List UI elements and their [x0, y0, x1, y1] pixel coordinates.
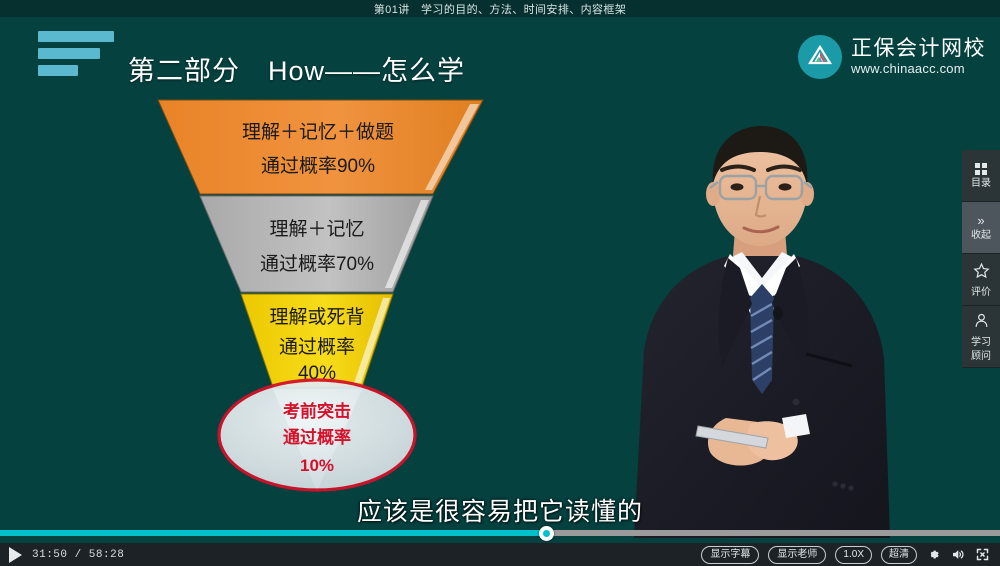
teacher-toggle-button[interactable]: 显示老师 — [768, 546, 826, 564]
funnel-yellow-line1: 理解或死背 — [269, 306, 364, 328]
sidebar-item-collapse-label: 收起 — [971, 230, 991, 241]
funnel-ellipse-line2: 通过概率 — [283, 427, 351, 447]
person-icon — [973, 312, 990, 334]
sidebar-item-advisor[interactable]: 学习 顾问 — [962, 306, 1000, 368]
funnel-level-gray: 理解＋记忆 通过概率70% — [200, 196, 433, 292]
sidebar-item-collapse[interactable]: » 收起 — [962, 202, 1000, 254]
sidebar-item-catalog[interactable]: 目录 — [962, 150, 1000, 202]
funnel-ellipse-line3: 10% — [300, 456, 334, 475]
video-player[interactable]: 第01讲 学习的目的、方法、时间安排、内容框架 第二部分 How——怎么学 正保… — [0, 0, 1000, 566]
slide-header: 第二部分 How——怎么学 正保会计网校 www.chinaacc.com — [0, 17, 1000, 95]
sidebar-item-advisor-label-2: 顾问 — [971, 351, 991, 362]
time-display: 31:50 / 58:28 — [32, 549, 124, 561]
progress-track[interactable] — [0, 530, 1000, 536]
subtitle-toggle-button[interactable]: 显示字幕 — [701, 546, 759, 564]
play-icon[interactable] — [9, 547, 22, 563]
playback-speed-button[interactable]: 1.0X — [835, 546, 872, 564]
funnel-chart: 理解＋记忆＋做题 通过概率90% 理解＋记忆 通过概率70% 理解或死背 通过概… — [140, 90, 500, 500]
fullscreen-icon[interactable] — [975, 547, 990, 562]
progress-bar[interactable] — [0, 523, 1000, 543]
chevron-double-right-icon: » — [977, 214, 984, 227]
funnel-yellow-line2: 通过概率 — [279, 336, 355, 358]
quality-button[interactable]: 超清 — [881, 546, 917, 564]
brand-watermark: 正保会计网校 www.chinaacc.com — [798, 35, 986, 79]
progress-fill — [0, 530, 546, 536]
funnel-ellipse-line1: 考前突击 — [282, 401, 351, 421]
funnel-level-orange: 理解＋记忆＋做题 通过概率90% — [158, 100, 483, 194]
funnel-level-yellow: 理解或死背 通过概率 40% — [241, 294, 393, 387]
grid-icon — [975, 163, 987, 175]
slide-title: 第二部分 How——怎么学 — [128, 49, 465, 88]
right-sidebar[interactable]: 目录 » 收起 评价 学习 顾问 — [962, 150, 1000, 368]
gear-icon[interactable] — [926, 547, 941, 562]
player-control-bar[interactable]: 31:50 / 58:28 显示字幕 显示老师 1.0X 超清 — [0, 543, 1000, 566]
lesson-title: 第01讲 学习的目的、方法、时间安排、内容框架 — [374, 1, 626, 17]
brand-url: www.chinaacc.com — [851, 62, 986, 77]
sidebar-item-rate[interactable]: 评价 — [962, 254, 1000, 306]
funnel-orange-line1: 理解＋记忆＋做题 — [242, 121, 394, 143]
funnel-level-ellipse: 考前突击 通过概率 10% — [219, 380, 415, 490]
three-bars-logo-icon — [38, 31, 114, 77]
funnel-gray-line1: 理解＋记忆 — [269, 218, 364, 240]
star-icon — [973, 262, 990, 284]
sidebar-item-advisor-label-1: 学习 — [971, 337, 991, 348]
funnel-gray-line2: 通过概率70% — [260, 253, 374, 275]
sidebar-item-rate-label: 评价 — [971, 287, 991, 298]
funnel-orange-line2: 通过概率90% — [261, 155, 375, 177]
chinaacc-logo-icon — [798, 35, 842, 79]
brand-name: 正保会计网校 — [851, 37, 986, 61]
progress-handle[interactable] — [539, 526, 554, 541]
volume-icon[interactable] — [950, 547, 966, 562]
sidebar-item-catalog-label: 目录 — [971, 178, 991, 189]
presenter-video — [600, 118, 960, 538]
lesson-title-bar: 第01讲 学习的目的、方法、时间安排、内容框架 — [0, 0, 1000, 17]
